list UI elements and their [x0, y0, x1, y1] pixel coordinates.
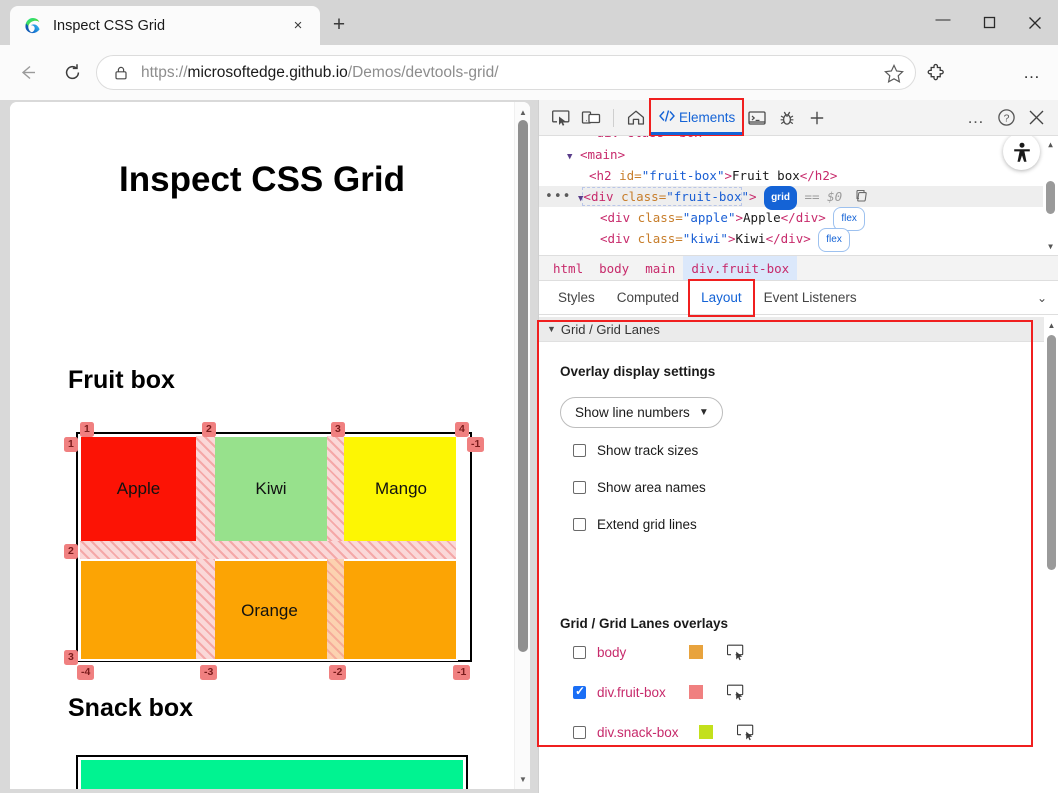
navigation-bar: https://microsoftedge.github.io/Demos/de… — [0, 45, 1058, 100]
grid-cell-seaweed: Seaweed — [81, 760, 463, 789]
grid-section-header[interactable]: ▼ Grid / Grid Lanes — [539, 317, 1044, 342]
devtools-more-button[interactable]: … — [961, 104, 991, 132]
tab-styles[interactable]: Styles — [547, 281, 606, 315]
scrollbar-thumb[interactable] — [1046, 181, 1055, 214]
overlay-display-settings-title: Overlay display settings — [560, 364, 715, 379]
dom-h2-attr: id= — [619, 168, 642, 183]
node-menu-dots[interactable]: ••• — [545, 186, 571, 207]
chevron-down-icon[interactable]: ⌄ — [1037, 291, 1047, 305]
grid-section-title: Grid / Grid Lanes — [561, 322, 660, 337]
overlay-row-body[interactable]: body — [573, 642, 746, 662]
device-emulation-icon[interactable] — [576, 104, 606, 132]
url-scheme: https:// — [141, 64, 188, 81]
fruit-box-grid: Apple Kiwi Mango Orange — [76, 432, 472, 662]
add-tool-icon[interactable] — [802, 104, 832, 132]
toolbar-divider — [613, 109, 614, 127]
expand-twisty-icon[interactable]: ▼ — [567, 152, 572, 162]
grid-line — [78, 659, 458, 661]
inspect-element-icon[interactable] — [546, 104, 576, 132]
page-scrollbar[interactable]: ▲ ▼ — [514, 102, 530, 789]
url-text: https://microsoftedge.github.io/Demos/de… — [141, 64, 499, 82]
dom-apple-attrval: "apple" — [683, 210, 736, 225]
dom-node-apple[interactable]: <div class="apple">Apple</div> flex — [539, 207, 1043, 228]
grid-cell-kiwi: Kiwi — [215, 437, 327, 541]
selected-node-outline — [582, 187, 742, 206]
show-element-icon[interactable] — [737, 724, 756, 741]
breadcrumb-item-main[interactable]: main — [637, 256, 683, 281]
flex-badge[interactable]: flex — [818, 228, 850, 252]
copy-icon[interactable] — [855, 188, 870, 209]
grid-line-number-col--4: -4 — [77, 665, 94, 680]
grid-line-number-row-2: 2 — [64, 544, 78, 559]
close-icon[interactable]: × — [284, 12, 312, 40]
overlay-row-div-snack-box[interactable]: div.snack-box — [573, 722, 756, 742]
grid-row-gap — [78, 541, 458, 559]
grid-cell-orange: Orange — [81, 561, 458, 661]
grid-column-gap — [196, 434, 215, 558]
scroll-down-arrow-icon[interactable]: ▼ — [1043, 239, 1058, 254]
dom-h2-attrval: "fruit-box" — [642, 168, 725, 183]
scroll-up-arrow-icon[interactable]: ▲ — [1044, 318, 1058, 333]
dom-kiwi-attr: class= — [638, 231, 683, 246]
checkbox-box[interactable] — [573, 686, 586, 699]
styles-pane-tabs: Styles Computed Layout Event Listeners ⌄ — [539, 280, 1058, 315]
grid-line — [456, 434, 458, 661]
dom-apple-gt: > — [735, 210, 743, 225]
devtools-right-icons: … ? — [961, 104, 1058, 132]
dom-tree-scrollbar[interactable]: ▲ ▼ — [1043, 136, 1058, 255]
overlay-color-swatch[interactable] — [689, 685, 703, 699]
grid-overlays-title: Grid / Grid Lanes overlays — [560, 616, 728, 631]
tab-elements[interactable]: Elements — [651, 100, 742, 135]
window-controls: — — [920, 0, 1058, 45]
checkbox-extend-grid-lines[interactable]: Extend grid lines — [573, 514, 697, 534]
lock-icon — [113, 65, 129, 81]
home-icon[interactable] — [621, 104, 651, 132]
help-icon[interactable]: ? — [991, 104, 1021, 132]
dom-kiwi-content: Kiwi — [735, 231, 765, 246]
checkbox-box[interactable] — [573, 726, 586, 739]
scrollbar-thumb[interactable] — [518, 120, 528, 652]
breadcrumb-item-body[interactable]: body — [591, 256, 637, 281]
checkbox-label: Show track sizes — [597, 443, 698, 458]
breadcrumb: html body main div.fruit-box — [539, 255, 1058, 280]
grid-cell-apple: Apple — [81, 437, 196, 541]
dom-apple-content: Apple — [743, 210, 781, 225]
browser-window: Inspect CSS Grid × + — — [0, 0, 1058, 793]
dom-eq: == — [797, 189, 827, 204]
checkbox-label: Show area names — [597, 480, 706, 495]
dom-kiwi-open: <div — [600, 231, 638, 246]
devtools-toolbar: Elements — [539, 100, 1058, 136]
reload-button[interactable] — [55, 56, 89, 90]
checkbox-show-area-names[interactable]: Show area names — [573, 477, 706, 497]
console-icon[interactable] — [742, 104, 772, 132]
url-host: microsoftedge.github.io — [188, 64, 348, 81]
grid-line-number-row-3: 3 — [64, 650, 78, 665]
grid-line — [78, 434, 80, 661]
favorite-star-icon[interactable] — [883, 63, 905, 84]
grid-line-number-col-2: 2 — [202, 422, 216, 437]
snack-box-heading: Snack box — [68, 694, 193, 723]
checkbox-box[interactable] — [573, 481, 586, 494]
scroll-down-arrow-icon[interactable]: ▼ — [515, 771, 530, 787]
tab-event-listeners[interactable]: Event Listeners — [753, 281, 868, 315]
chevron-down-icon: ▼ — [699, 407, 709, 418]
dom-node-main[interactable]: ▼ <main> — [539, 144, 1043, 165]
dom-tree[interactable]: <div class="box"> ▼ <main> <h2 id="fruit… — [539, 136, 1058, 255]
tab-title: Inspect CSS Grid — [53, 18, 284, 34]
snack-box-grid: Seaweed — [76, 755, 468, 789]
minimize-button[interactable]: — — [920, 0, 966, 45]
line-numbers-select[interactable]: Show line numbers ▼ — [560, 397, 723, 428]
new-tab-button[interactable]: + — [322, 10, 356, 40]
dom-apple-open: <div — [600, 210, 638, 225]
devtools-panel: Elements — [538, 100, 1058, 793]
address-bar[interactable]: https://microsoftedge.github.io/Demos/de… — [96, 55, 916, 90]
devtools-close-button[interactable] — [1021, 104, 1051, 132]
page-viewport: Inspect CSS Grid Fruit box Snack box App… — [10, 102, 530, 789]
dom-node-main-text: <main> — [580, 147, 625, 162]
dom-node-h2[interactable]: <h2 id="fruit-box">Fruit box</h2> — [539, 165, 1043, 186]
grid-line-number-col-4: 4 — [455, 422, 469, 437]
grid-line-number-col--2: -2 — [329, 665, 346, 680]
checkbox-show-track-sizes[interactable]: Show track sizes — [573, 440, 698, 460]
grid-line-number-row--1: -1 — [467, 437, 484, 452]
overlay-element-label: div.fruit-box — [597, 685, 685, 700]
show-element-icon[interactable] — [727, 644, 746, 661]
grid-cell-mango: Mango — [344, 437, 458, 541]
checkbox-box[interactable] — [573, 444, 586, 457]
dom-node-kiwi[interactable]: <div class="kiwi">Kiwi</div> flex — [539, 228, 1043, 249]
web-page: Inspect CSS Grid Fruit box Snack box App… — [10, 102, 514, 789]
overlay-element-label: body — [597, 645, 685, 660]
fruit-box-heading: Fruit box — [68, 366, 175, 395]
dom-h2-gt: > — [724, 168, 732, 183]
debugger-bug-icon[interactable] — [772, 104, 802, 132]
overlay-color-swatch[interactable] — [699, 725, 713, 739]
breadcrumb-item-div-fruit-box[interactable]: div.fruit-box — [683, 256, 797, 281]
url-path: /Demos/devtools-grid/ — [348, 64, 499, 81]
grid-column-gap — [327, 434, 344, 558]
line-numbers-select-value: Show line numbers — [575, 405, 690, 420]
tab-computed[interactable]: Computed — [606, 281, 690, 315]
scrollbar-thumb[interactable] — [1047, 335, 1056, 570]
back-button[interactable] — [10, 56, 44, 90]
checkbox-box[interactable] — [573, 518, 586, 531]
code-brackets-icon — [658, 109, 676, 126]
tab-elements-label: Elements — [679, 110, 735, 125]
scroll-up-arrow-icon[interactable]: ▲ — [515, 104, 530, 120]
close-window-button[interactable] — [1012, 0, 1058, 45]
puzzle-extensions-icon[interactable] — [925, 61, 949, 85]
maximize-button[interactable] — [966, 0, 1012, 45]
dom-node-clipped[interactable]: <div class="box"> — [539, 136, 1043, 143]
dom-apple-attr: class= — [638, 210, 683, 225]
browser-more-button[interactable]: … — [1018, 59, 1046, 87]
browser-tab[interactable]: Inspect CSS Grid × — [10, 6, 320, 45]
overlay-element-label: div.snack-box — [597, 725, 695, 740]
grid-line-number-col-1: 1 — [80, 422, 94, 437]
layout-pane: ▼ Grid / Grid Lanes Overlay display sett… — [539, 317, 1058, 793]
edge-logo-icon — [24, 17, 41, 34]
grid-line — [78, 434, 458, 436]
svg-text:?: ? — [1003, 112, 1009, 124]
dom-h2-content: Fruit box — [732, 168, 800, 183]
dom-h2-open: <h2 — [589, 168, 619, 183]
breadcrumb-item-html[interactable]: html — [545, 256, 591, 281]
scroll-up-arrow-icon[interactable]: ▲ — [1043, 137, 1058, 152]
tab-strip: Inspect CSS Grid × + — — [0, 0, 1058, 45]
checkbox-box[interactable] — [573, 646, 586, 659]
grid-line-number-col-3: 3 — [331, 422, 345, 437]
dom-kiwi-attrval: "kiwi" — [683, 231, 728, 246]
page-title: Inspect CSS Grid — [10, 160, 514, 200]
show-element-icon[interactable] — [727, 684, 746, 701]
active-tab-underline — [651, 132, 742, 135]
grid-section-body: Overlay display settings Show line numbe… — [539, 342, 1044, 793]
dom-h2-close: </h2> — [800, 168, 838, 183]
dom-kiwi-close: </div> — [766, 231, 819, 246]
checkbox-label: Extend grid lines — [597, 517, 697, 532]
layout-pane-scrollbar[interactable]: ▲ ▼ — [1044, 317, 1058, 793]
dom-dollar-zero: $0 — [827, 189, 842, 204]
grid-line-number-col--1: -1 — [453, 665, 470, 680]
tab-layout[interactable]: Layout — [690, 281, 753, 315]
grid-line-number-col--3: -3 — [200, 665, 217, 680]
dom-div-gt: > — [749, 189, 764, 204]
grid-line-number-row-1: 1 — [64, 437, 78, 452]
dom-apple-close: </div> — [781, 210, 834, 225]
overlay-row-div-fruit-box[interactable]: div.fruit-box — [573, 682, 746, 702]
collapse-twisty-icon[interactable]: ▼ — [547, 324, 556, 334]
overlay-color-swatch[interactable] — [689, 645, 703, 659]
